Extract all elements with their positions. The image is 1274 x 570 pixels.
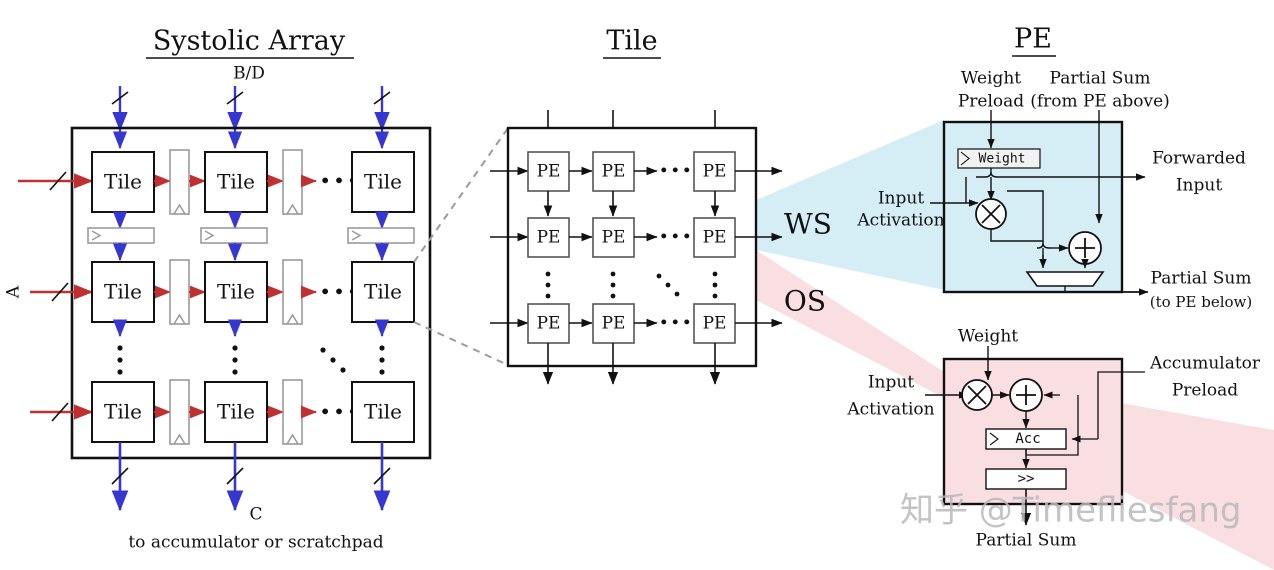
tile-cell-label: PE — [602, 228, 626, 248]
tile-cell-label: PE — [703, 162, 727, 182]
tile-cell-label: PE — [602, 314, 626, 334]
weight-preload-label-2: Preload — [958, 92, 1024, 112]
accumulator-preload-label-1: Accumulator — [1149, 354, 1261, 374]
diagram-root: Systolic Array B/D Tile — [0, 0, 1274, 570]
tile-row-ellipsis: ••• — [659, 314, 694, 334]
accumulator-preload-label-2: Preload — [1172, 381, 1238, 401]
weight-preload-label-1: Weight — [961, 69, 1021, 89]
os-dataflow-label: OS — [784, 285, 826, 318]
array-cell-label: Tile — [364, 280, 402, 304]
tile-cell-label: PE — [703, 314, 727, 334]
forwarded-input-label-1: Forwarded — [1152, 149, 1246, 169]
acc-register-label: Acc — [1015, 431, 1040, 447]
top-bus-label: B/D — [233, 64, 265, 84]
input-activation-os-label-2: Activation — [846, 400, 934, 420]
bottom-caption: to accumulator or scratchpad — [128, 533, 383, 553]
tile-row-ellipsis: ••• — [659, 228, 694, 248]
array-cell-label: Tile — [364, 400, 402, 424]
left-bus-label: A — [4, 285, 24, 299]
pipeline-register-horizontal — [348, 228, 414, 243]
tile-cell-label: PE — [537, 162, 561, 182]
partial-sum-out-label-2: (to PE below) — [1150, 293, 1253, 311]
tile-row-ellipsis: ••• — [659, 162, 694, 182]
array-column-ellipses — [117, 322, 384, 375]
ws-dataflow-label: WS — [784, 208, 832, 241]
systolic-array-panel: Systolic Array B/D Tile — [4, 26, 431, 553]
bottom-output-buses — [112, 442, 390, 510]
top-input-buses — [112, 86, 390, 130]
array-row-1-down-registers — [88, 212, 414, 260]
array-row-3: Tile Tile ••• Tile — [30, 380, 414, 444]
tile-callout-lines — [414, 128, 508, 365]
array-cell-label: Tile — [364, 170, 402, 194]
tile-cell-label: PE — [537, 228, 561, 248]
bottom-bus-label: C — [249, 505, 262, 525]
shifter-label: >> — [1018, 471, 1035, 487]
array-row-2: A Tile Tile ••• Tile — [4, 260, 415, 324]
partial-sum-out-label-1: Partial Sum — [1151, 269, 1252, 289]
array-cell-label: Tile — [104, 170, 142, 194]
tile-title: Tile — [606, 26, 657, 57]
array-cell-label: Tile — [104, 280, 142, 304]
tile-panel: Tile PE PE ••• PE — [490, 26, 782, 385]
pe-ws-boundary — [944, 122, 1122, 292]
weight-os-label: Weight — [958, 327, 1018, 347]
tile-cell-label: PE — [537, 314, 561, 334]
array-cell-label: Tile — [217, 400, 255, 424]
systolic-architecture-diagram: Systolic Array B/D Tile — [0, 0, 1274, 570]
watermark-text: 知乎 @Timefliesfang — [900, 491, 1241, 531]
input-activation-ws-label-2: Activation — [856, 211, 944, 231]
partial-sum-os-label: Partial Sum — [976, 531, 1077, 551]
array-cell-label: Tile — [104, 400, 142, 424]
pipeline-register-horizontal — [88, 228, 154, 243]
array-cell-label: Tile — [217, 170, 255, 194]
mux-node — [1027, 272, 1103, 286]
tile-cell-label: PE — [602, 162, 626, 182]
weight-register-label: Weight — [979, 152, 1026, 167]
tile-cell-label: PE — [703, 228, 727, 248]
array-cell-label: Tile — [217, 280, 255, 304]
pe-title: PE — [1014, 24, 1052, 55]
forwarded-input-label-2: Input — [1176, 176, 1222, 196]
partial-sum-in-label-1: Partial Sum — [1050, 69, 1151, 89]
partial-sum-in-label-2: (from PE above) — [1030, 92, 1170, 112]
systolic-array-title: Systolic Array — [153, 26, 346, 57]
input-activation-ws-label-1: Input — [878, 189, 924, 209]
array-row-1: Tile Tile ••• Tile — [18, 130, 414, 214]
pipeline-register-horizontal — [201, 228, 267, 243]
input-activation-os-label-1: Input — [868, 373, 914, 393]
